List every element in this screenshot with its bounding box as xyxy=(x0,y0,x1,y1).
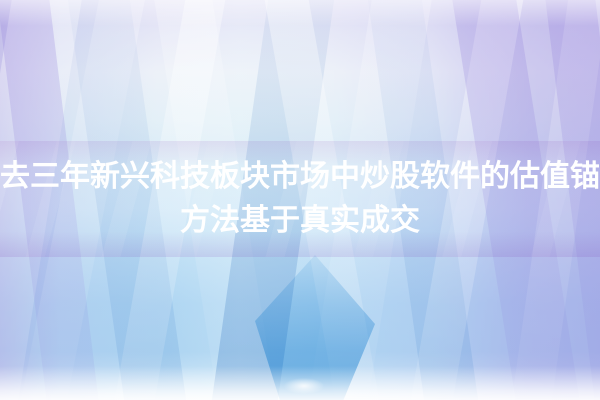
title-line-2: 方法基于真实成交 xyxy=(180,199,420,243)
top-haze-overlay xyxy=(0,0,600,26)
article-header-banner: 过去三年新兴科技板块市场中炒股软件的估值锚定 方法基于真实成交 xyxy=(0,0,600,400)
title-band: 过去三年新兴科技板块市场中炒股软件的估值锚定 方法基于真实成交 xyxy=(0,141,600,257)
title-line-1: 过去三年新兴科技板块市场中炒股软件的估值锚定 xyxy=(0,155,600,199)
faded-watermark xyxy=(284,378,324,394)
